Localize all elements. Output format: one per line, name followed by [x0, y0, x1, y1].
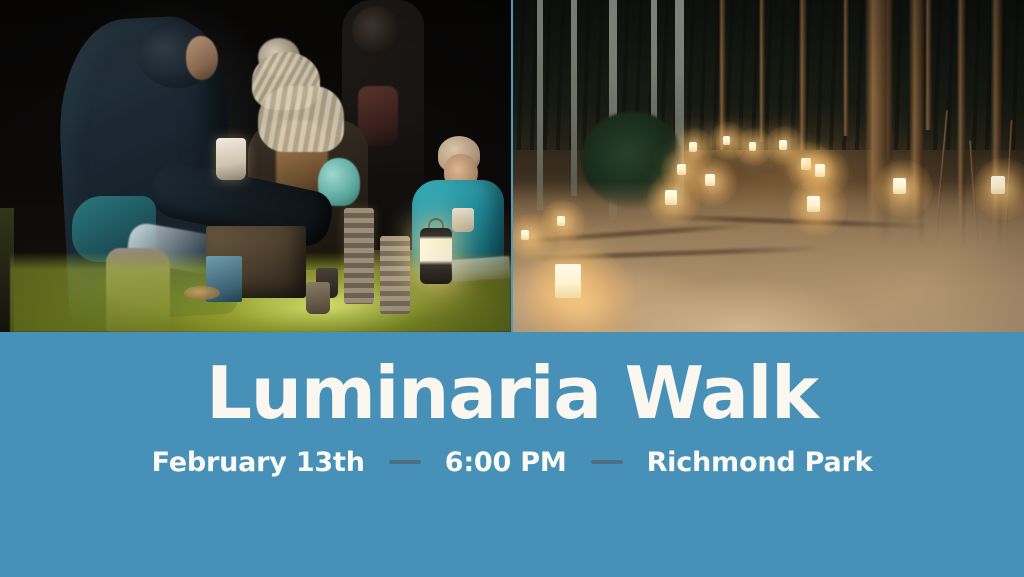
luminaria-bag	[665, 190, 677, 205]
luminaria-bag	[749, 142, 756, 151]
luminaria-bag	[807, 196, 820, 212]
meta-separator-dash	[591, 460, 623, 464]
tree-trunk	[925, 0, 932, 130]
luminaria-bag	[893, 178, 906, 194]
luminaria-bag	[557, 216, 565, 226]
right-photo	[513, 0, 1024, 332]
event-location: Richmond Park	[647, 447, 873, 478]
event-meta: February 13th 6:00 PM Richmond Park	[0, 431, 1024, 478]
knit-scarf	[258, 86, 344, 152]
luminaria-bag	[723, 136, 730, 145]
background-figure-head	[352, 6, 400, 54]
event-info-banner: Luminaria Walk February 13th 6:00 PM Ric…	[0, 332, 1024, 577]
tree-trunk	[759, 0, 765, 142]
luminaria-bag	[815, 164, 825, 177]
cup-stack-short	[380, 236, 410, 314]
held-coffee-cup	[216, 138, 246, 180]
banner-content: Luminaria Walk February 13th 6:00 PM Ric…	[0, 332, 1024, 478]
luminaria-bag	[801, 158, 811, 170]
birch-trunk	[571, 0, 577, 196]
luminaria-bag	[991, 176, 1005, 194]
photo-strip	[0, 0, 1024, 332]
meta-separator-dash	[389, 460, 421, 464]
forest-canopy	[513, 0, 1024, 150]
single-cup-light	[306, 282, 330, 314]
tree-trunk	[843, 0, 849, 136]
event-date: February 13th	[152, 447, 365, 478]
luminaria-bag	[555, 264, 581, 298]
table-left-edge	[0, 208, 14, 332]
tree-trunk	[719, 0, 726, 150]
cup-stack-tall	[344, 208, 374, 304]
event-time: 6:00 PM	[445, 447, 567, 478]
foreground-adult-face	[186, 36, 218, 80]
luminaria-bag	[689, 142, 697, 152]
cookie	[184, 286, 220, 300]
left-photo	[0, 0, 511, 332]
luminaria-bag	[705, 174, 715, 186]
event-title: Luminaria Walk	[0, 332, 1024, 431]
table-paper-sheet	[451, 256, 510, 282]
birch-trunk	[537, 0, 543, 210]
camp-lantern-icon	[420, 228, 452, 284]
luminaria-bag	[779, 140, 787, 150]
girl-cup	[452, 208, 474, 232]
tree-trunk	[799, 0, 807, 150]
luminaria-bag	[521, 230, 529, 240]
event-poster: Luminaria Walk February 13th 6:00 PM Ric…	[0, 0, 1024, 577]
luminaria-bag	[677, 164, 686, 175]
